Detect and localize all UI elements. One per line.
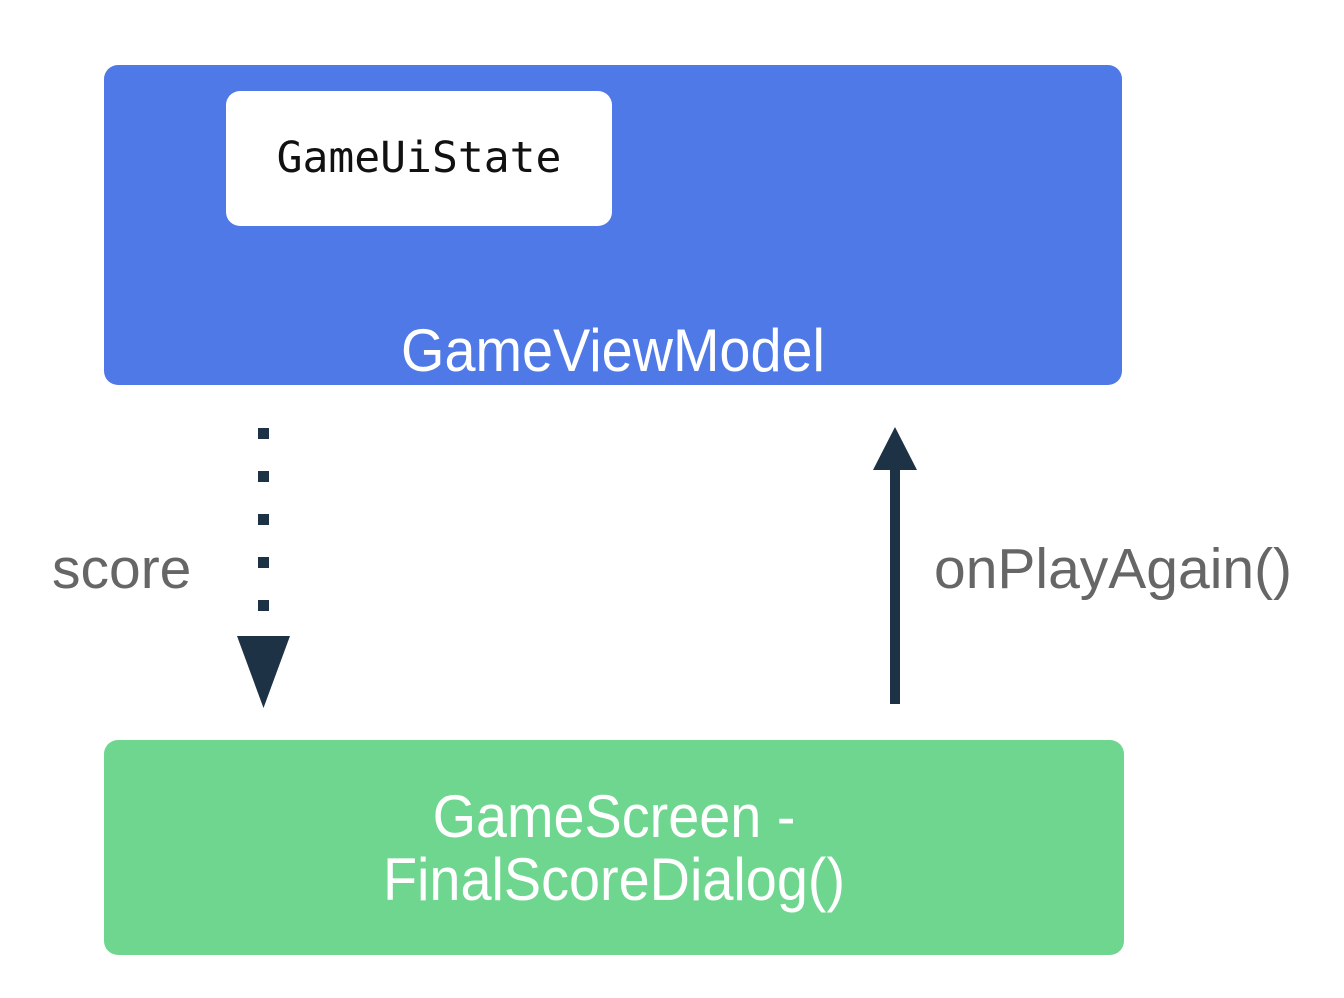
dot-5	[258, 600, 269, 611]
dot-2	[258, 471, 269, 482]
arrowhead-up-icon	[873, 427, 917, 470]
node-game-view-model[interactable]: GameUiState GameViewModel	[104, 65, 1122, 385]
node-game-ui-state-chip[interactable]: GameUiState	[226, 91, 612, 226]
edge-label-score: score	[52, 541, 191, 598]
game-view-model-label: GameViewModel	[140, 319, 1087, 382]
dot-3	[258, 514, 269, 525]
arrow-shaft	[890, 469, 900, 704]
diagram-canvas: GameUiState GameViewModel score onPlayAg…	[0, 0, 1344, 998]
event-flow-arrow	[860, 415, 940, 720]
game-screen-label: GameScreen - FinalScoreDialog()	[140, 785, 1089, 911]
node-game-screen[interactable]: GameScreen - FinalScoreDialog()	[104, 740, 1124, 955]
dot-4	[258, 557, 269, 568]
arrowhead-down-icon	[237, 636, 290, 708]
edge-label-on-play-again: onPlayAgain()	[934, 541, 1292, 598]
state-flow-arrow	[225, 415, 305, 720]
game-ui-state-label: GameUiState	[277, 137, 562, 180]
dot-1	[258, 428, 269, 439]
